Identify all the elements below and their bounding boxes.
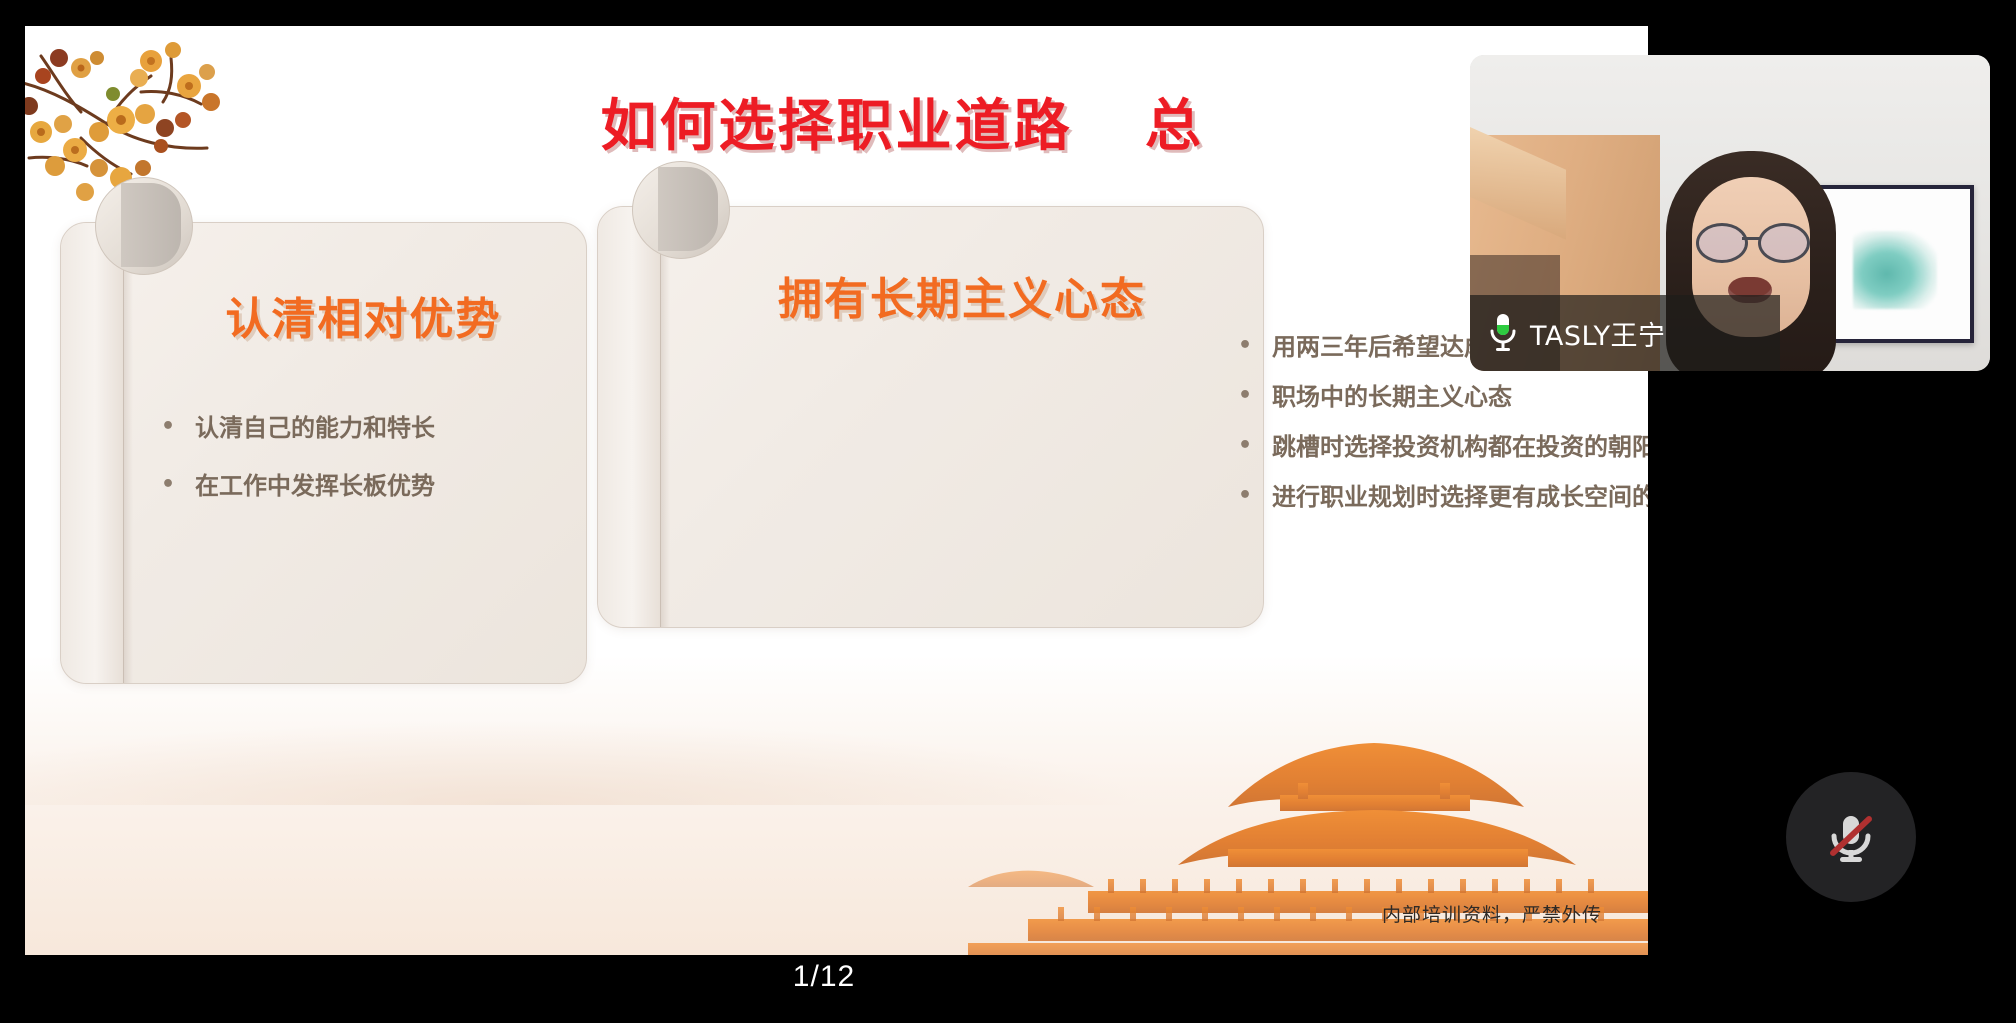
video-background-picture-art — [1853, 231, 1937, 309]
bullet-marker: • — [1238, 332, 1272, 360]
microphone-active-icon — [1488, 312, 1518, 354]
bullet-text: 职场中的长期主义心态 — [1272, 382, 1512, 412]
scroll-roll-knob-inner — [658, 167, 718, 251]
microphone-muted-icon — [1820, 806, 1882, 868]
scroll-panel-long-termism: 拥有长期主义心态 • 用两三年后希望达成的目标指导今天的决策 • 职场中的长期主… — [597, 206, 1264, 628]
glasses-lens-right — [1758, 223, 1810, 263]
slide-title: 如何选择职业道路 — [25, 81, 1648, 162]
page-indicator: 1/12 — [0, 960, 1648, 994]
glasses-lens-left — [1696, 223, 1748, 263]
participant-glasses — [1696, 223, 1806, 257]
list-item: • 职场中的长期主义心态 — [1238, 382, 1648, 412]
participant-nameplate: TASLY王宁 — [1470, 295, 1780, 371]
scroll-panel-relative-advantage: 认清相对优势 • 认清自己的能力和特长 • 在工作中发挥长板优势 — [60, 222, 587, 684]
bullet-marker: • — [1238, 432, 1272, 460]
glasses-bridge — [1742, 237, 1760, 240]
participant-name: TASLY王宁 — [1530, 314, 1665, 353]
panel-heading-long-termism: 拥有长期主义心态 — [598, 263, 1443, 327]
bullet-text: 进行职业规划时选择更有成长空间的工作 — [1272, 482, 1648, 512]
bullet-list-relative-advantage: • 认清自己的能力和特长 • 在工作中发挥长板优势 — [161, 413, 561, 529]
bullet-marker: • — [1238, 482, 1272, 510]
bullet-marker: • — [161, 413, 195, 441]
participant-video-tile[interactable]: TASLY王宁 — [1470, 55, 1990, 371]
list-item: • 跳槽时选择投资机构都在投资的朝阳产业 — [1238, 432, 1648, 462]
list-item: • 进行职业规划时选择更有成长空间的工作 — [1238, 482, 1648, 512]
slide-title-right-fragment: 总 — [1145, 81, 1204, 162]
list-item: • 认清自己的能力和特长 — [161, 413, 561, 443]
microphone-mute-button[interactable] — [1786, 772, 1916, 902]
video-conference-stage: 如何选择职业道路 总 认清相对优势 • 认清自己的能力和特长 • 在工作中发挥长… — [0, 0, 2016, 1023]
bullet-text: 认清自己的能力和特长 — [195, 413, 435, 443]
scroll-roll-knob-inner — [121, 183, 181, 267]
bullet-marker: • — [161, 471, 195, 499]
bullet-text: 跳槽时选择投资机构都在投资的朝阳产业 — [1272, 432, 1648, 462]
panel-heading-relative-advantage: 认清相对优势 — [61, 283, 626, 347]
bullet-marker: • — [1238, 382, 1272, 410]
confidential-notice: 内部培训资料，严禁外传 — [1382, 900, 1602, 927]
bullet-text: 在工作中发挥长板优势 — [195, 471, 435, 501]
shared-slide[interactable]: 如何选择职业道路 总 认清相对优势 • 认清自己的能力和特长 • 在工作中发挥长… — [25, 26, 1648, 955]
list-item: • 在工作中发挥长板优势 — [161, 471, 561, 501]
video-background-picture-frame — [1816, 185, 1974, 343]
